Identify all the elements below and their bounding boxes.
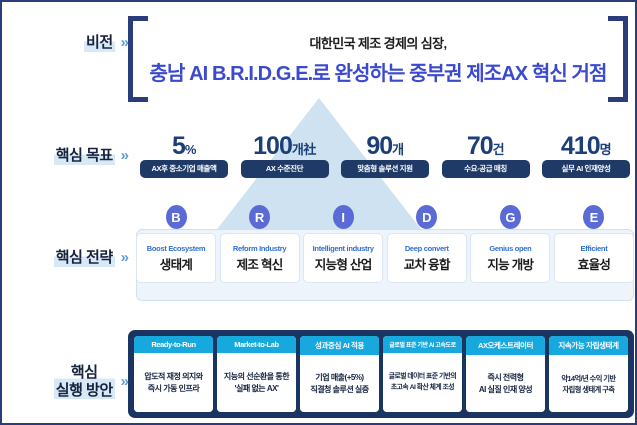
strategy-korean-label: 제조 혁신 — [237, 254, 283, 273]
rail-strategy: 핵심 전략 » — [8, 249, 126, 267]
action-row: Ready-to-Run 압도적 재정 의지와 즉시 가동 인프라 Market… — [134, 336, 628, 412]
rail-strategy-label: 핵심 전략 — [54, 249, 115, 267]
strategy-row: B Boost Ecosystem 생태계 R Reform Industry … — [136, 205, 634, 301]
strategy-english-label: Boost Ecosystem — [147, 244, 205, 253]
goal-metric-unit: 개 — [392, 142, 403, 157]
goal-metrics-row: 5% AX후 중소기업 매출액 100개社 AX 수준진단 90개 맞춤형 솔루… — [136, 120, 634, 178]
goal-metric-value: 410 — [561, 132, 600, 160]
strategy-english-label: Reform Industry — [233, 244, 286, 253]
goal-metric-number: 410명 — [561, 134, 611, 159]
action-card-line: 기업 매출(+5%) — [315, 373, 363, 383]
strategy-korean-label: 지능 개방 — [487, 254, 533, 273]
action-card-header: 성과중심 AI 적용 — [300, 336, 379, 355]
action-card-header: 지속가능 자립생태계 — [549, 336, 628, 355]
action-card-line: 압도적 재정 의지와 — [144, 372, 202, 382]
action-card-line: 자립형 생태계 구축 — [563, 385, 615, 394]
strategy-card: Genius open 지능 개방 — [470, 233, 550, 283]
action-card: AX오케스트레이터 즉시 전력형 AI 실질 인재 양성 — [466, 336, 545, 412]
action-card-body: 글로벌 데이터 표준 기반의 초고속 AI 확산 체계 조성 — [383, 353, 462, 412]
action-card-header: 글로벌 표준 기반 AI 고속도로 — [383, 336, 462, 353]
action-card-body: 즉시 전력형 AI 실질 인재 양성 — [466, 355, 545, 412]
strategy-english-label: Genius open — [489, 244, 531, 253]
goal-metric-unit: 개社 — [292, 142, 316, 157]
strategy-letter-badge: B — [166, 205, 187, 229]
strategy-card: Reform Industry 제조 혁신 — [220, 233, 300, 283]
action-card-body: 약14억/년 수익 기반 자립형 생태계 구축 — [549, 355, 628, 412]
goal-metric: 70건 수요-공급 매칭 — [438, 134, 534, 178]
strategy-korean-label: 생태계 — [160, 254, 192, 273]
action-card-body: 지능의 선순환을 통한 '실패 없는 AX' — [217, 353, 296, 412]
strategy-item: G Genius open 지능 개방 — [470, 205, 550, 301]
action-card-header: Market-to-Lab — [217, 336, 296, 353]
rail-action-line1: 핵심 — [71, 364, 98, 381]
rail-action-line2: 실행 방안 — [56, 382, 113, 399]
goal-metric-label: AX 수준진단 — [241, 160, 329, 178]
vision-subtitle: 대한민국 제조 경제의 심장, — [309, 33, 446, 52]
goal-metric-unit: 명 — [600, 142, 611, 157]
goal-metric-value: 100 — [253, 132, 292, 160]
chevron-double-right-icon: » — [121, 148, 126, 163]
rail-vision-label: 비전 — [84, 34, 115, 52]
strategy-item: D Deep convert 교차 융합 — [387, 205, 467, 301]
action-card-line: 직결청 솔루션 실증 — [310, 385, 368, 395]
goal-metric-number: 70건 — [467, 134, 504, 159]
strategy-letter-badge: R — [249, 205, 270, 229]
strategy-item: E Efficient 효율성 — [554, 205, 634, 301]
goal-metric-number: 5% — [172, 134, 196, 159]
action-card-header: AX오케스트레이터 — [466, 336, 545, 355]
strategy-letter-badge: D — [416, 205, 437, 229]
action-card: 글로벌 표준 기반 AI 고속도로 글로벌 데이터 표준 기반의 초고속 AI … — [383, 336, 462, 412]
infographic-page: 비전 » 대한민국 제조 경제의 심장, 충남 AI B.R.I.D.G.E.로… — [0, 0, 637, 425]
rail-vision: 비전 » — [8, 34, 126, 52]
strategy-item: R Reform Industry 제조 혁신 — [220, 205, 300, 301]
strategy-card: Intelligent industry 지능형 산업 — [303, 233, 383, 283]
action-card: 성과중심 AI 적용 기업 매출(+5%) 직결청 솔루션 실증 — [300, 336, 379, 412]
goal-metric-number: 100개社 — [253, 134, 316, 159]
action-card-line: 즉시 전력형 — [487, 373, 523, 383]
strategy-korean-label: 교차 융합 — [404, 254, 450, 273]
goal-metric: 5% AX후 중소기업 매출액 — [136, 134, 232, 178]
chevron-double-right-icon: » — [121, 35, 126, 50]
action-card-line: 초고속 AI 확산 체계 조성 — [391, 384, 454, 392]
goal-metric-number: 90개 — [366, 134, 403, 159]
action-card-line: 글로벌 데이터 표준 기반의 — [389, 373, 456, 381]
action-card-line: 약14억/년 수익 기반 — [561, 374, 615, 383]
strategy-letter-badge: G — [500, 205, 521, 229]
action-card-body: 기업 매출(+5%) 직결청 솔루션 실증 — [300, 355, 379, 412]
goal-metric-label: 수요-공급 매칭 — [442, 160, 530, 178]
rail-action-plan: 핵심실행 방안 » — [8, 364, 126, 399]
goal-metric-value: 90 — [366, 132, 392, 160]
goal-metric-unit: 건 — [493, 142, 504, 157]
action-card-line: '실패 없는 AX' — [235, 384, 279, 394]
strategy-english-label: Intelligent industry — [313, 244, 374, 253]
strategy-item: I Intelligent industry 지능형 산업 — [303, 205, 383, 301]
action-card-line: AI 실질 인재 양성 — [479, 385, 532, 395]
action-card-line: 즉시 가동 인프라 — [148, 384, 199, 394]
goal-metric-label: 맞춤형 솔루션 지원 — [341, 160, 429, 178]
goal-metric-unit: % — [185, 142, 196, 157]
action-card: Ready-to-Run 압도적 재정 의지와 즉시 가동 인프라 — [134, 336, 213, 412]
strategy-korean-label: 지능형 산업 — [315, 254, 372, 273]
strategy-korean-label: 효율성 — [578, 254, 610, 273]
strategy-english-label: Deep convert — [405, 244, 449, 253]
action-card: Market-to-Lab 지능의 선순환을 통한 '실패 없는 AX' — [217, 336, 296, 412]
bracket-left-decoration — [128, 16, 148, 102]
strategy-letter-badge: E — [583, 205, 604, 229]
goal-metric-label: 실무 AI 인재양성 — [542, 160, 630, 178]
strategy-letter-badge: I — [333, 205, 354, 229]
rail-goal: 핵심 목표 » — [8, 147, 126, 165]
goal-metric-value: 70 — [467, 132, 493, 160]
action-card: 지속가능 자립생태계 약14억/년 수익 기반 자립형 생태계 구축 — [549, 336, 628, 412]
chevron-double-right-icon: » — [121, 374, 126, 389]
vision-title: 충남 AI B.R.I.D.G.E.로 완성하는 중부권 제조AX 혁신 거점 — [149, 57, 606, 86]
action-card-header: Ready-to-Run — [134, 336, 213, 353]
strategy-card: Boost Ecosystem 생태계 — [136, 233, 216, 283]
goal-metric: 100개社 AX 수준진단 — [237, 134, 333, 178]
rail-goal-label: 핵심 목표 — [54, 147, 115, 165]
goal-metric: 410명 실무 AI 인재양성 — [538, 134, 634, 178]
goal-metric-label: AX후 중소기업 매출액 — [140, 160, 228, 178]
strategy-item: B Boost Ecosystem 생태계 — [136, 205, 216, 301]
vision-banner: 대한민국 제조 경제의 심장, 충남 AI B.R.I.D.G.E.로 완성하는… — [128, 16, 628, 102]
bracket-right-decoration — [608, 16, 628, 102]
chevron-double-right-icon: » — [121, 250, 126, 265]
rail-action-plan-label: 핵심실행 방안 — [54, 364, 115, 399]
strategy-card: Efficient 효율성 — [554, 233, 634, 283]
goal-metric-value: 5 — [172, 132, 185, 160]
goal-metric: 90개 맞춤형 솔루션 지원 — [337, 134, 433, 178]
action-card-line: 지능의 선순환을 통한 — [224, 372, 289, 382]
strategy-english-label: Efficient — [581, 244, 608, 253]
strategy-card: Deep convert 교차 융합 — [387, 233, 467, 283]
action-card-body: 압도적 재정 의지와 즉시 가동 인프라 — [134, 353, 213, 412]
